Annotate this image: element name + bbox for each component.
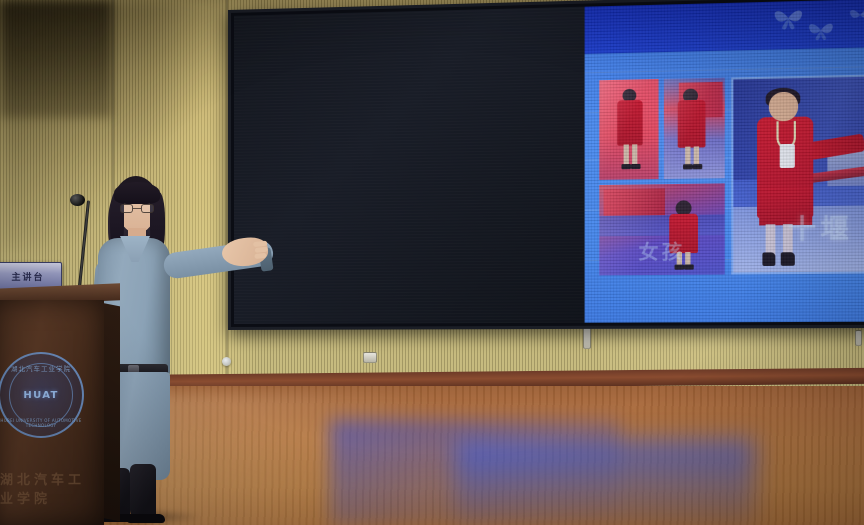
photo-collage: 女孩 bbox=[599, 78, 724, 276]
slide-body: 女孩 bbox=[585, 47, 864, 323]
emblem-arc-top: 湖北汽车工业学院 bbox=[0, 363, 82, 373]
lecture-hall-photo: 女孩 bbox=[0, 0, 864, 525]
main-photo-watermark: 十堰 bbox=[744, 201, 864, 253]
collage-photo-2 bbox=[664, 78, 725, 179]
lectern[interactable]: 主讲台 湖北汽车工业学院 HUAT HUBEI UNIVERSITY OF AU… bbox=[0, 286, 120, 525]
main-slide-photo: 十堰 bbox=[731, 74, 864, 275]
presenter-hair-front bbox=[114, 182, 160, 204]
lectern-plaque-text: 主讲台 bbox=[11, 270, 44, 283]
butterfly-icon bbox=[848, 5, 864, 24]
lectern-lower-text: 湖北汽车工业学院 bbox=[0, 469, 86, 507]
floor-reflection bbox=[455, 440, 755, 525]
university-emblem-icon: 湖北汽车工业学院 HUAT HUBEI UNIVERSITY OF AUTOMO… bbox=[0, 352, 84, 438]
butterfly-icon bbox=[772, 5, 804, 31]
wall-bracket-icon bbox=[855, 330, 862, 346]
presentation-slide: 女孩 bbox=[585, 0, 864, 323]
eyeglasses-icon bbox=[120, 204, 154, 213]
screen-dark-panel bbox=[234, 7, 585, 324]
lectern-front-panel: 湖北汽车工业学院 HUAT HUBEI UNIVERSITY OF AUTOMO… bbox=[0, 300, 104, 525]
emblem-abbreviation: HUAT bbox=[23, 390, 58, 401]
projection-screen[interactable]: 女孩 bbox=[228, 10, 864, 330]
wall-socket-icon bbox=[363, 352, 377, 363]
speaker-mount-icon bbox=[583, 327, 591, 349]
collage-photo-3: 女孩 bbox=[599, 183, 724, 275]
emblem-arc-bottom: HUBEI UNIVERSITY OF AUTOMOTIVE TECHNOLOG… bbox=[0, 418, 82, 428]
boot-sole-right bbox=[127, 514, 165, 523]
screen-frame: 女孩 bbox=[228, 0, 864, 330]
butterfly-icon bbox=[807, 19, 835, 42]
collage-photo-1 bbox=[599, 79, 658, 180]
slide-top-band bbox=[585, 0, 864, 54]
presenter-boot-right bbox=[130, 464, 156, 520]
